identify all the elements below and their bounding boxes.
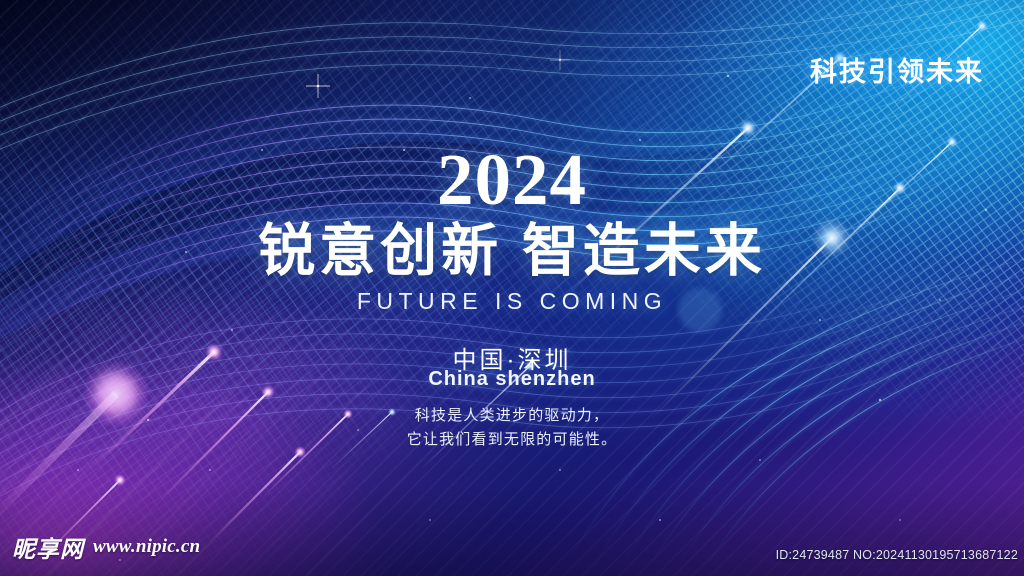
poster-content: 科技引领未来 2024 锐意创新 智造未来 FUTURE IS COMING 中… — [0, 0, 1024, 576]
subtitle-english: FUTURE IS COMING — [0, 288, 1024, 315]
poster-canvas: 科技引领未来 2024 锐意创新 智造未来 FUTURE IS COMING 中… — [0, 0, 1024, 576]
nipic-logo-text: 昵享网 — [12, 530, 84, 564]
nipic-url-text: www.nipic.cn — [93, 536, 200, 558]
year-heading: 2024 — [0, 143, 1024, 216]
location-english: China shenzhen — [0, 368, 1024, 391]
watermark: 昵享网 www.nipic.cn — [12, 530, 200, 564]
description-line-1: 科技是人类进步的驱动力， — [0, 404, 1024, 425]
tagline-text: 科技引领未来 — [810, 50, 984, 89]
image-id-text: ID:24739487 NO:20241130195713687122 — [776, 548, 1018, 562]
main-headline: 锐意创新 智造未来 — [0, 222, 1024, 281]
description-line-2: 它让我们看到无限的可能性。 — [0, 428, 1024, 449]
